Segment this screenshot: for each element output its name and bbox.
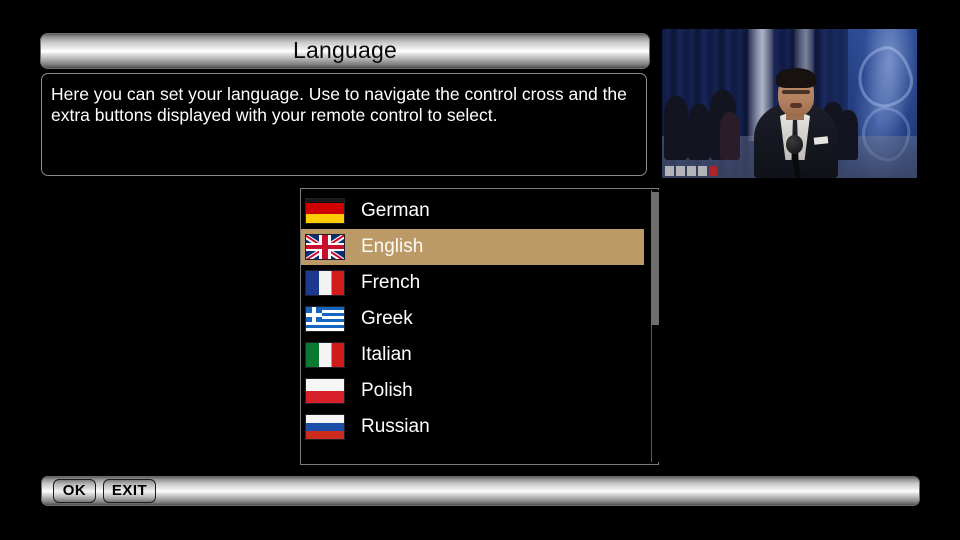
language-list-item[interactable]: French xyxy=(301,265,644,301)
exit-button[interactable]: EXIT xyxy=(103,479,156,503)
logo-glyph xyxy=(665,166,674,176)
flag-germany-icon xyxy=(305,198,345,224)
flag-italy-icon xyxy=(305,342,345,368)
language-list-item-label: English xyxy=(361,236,423,258)
flag-france-icon xyxy=(305,270,345,296)
language-list-item[interactable]: Italian xyxy=(301,337,644,373)
video-crowd-figure xyxy=(664,96,688,160)
ok-button[interactable]: OK xyxy=(53,479,96,503)
language-list-item[interactable]: Russian xyxy=(301,409,644,445)
dialog-title-bar: Language xyxy=(40,33,650,69)
language-list-item-label: German xyxy=(361,200,430,222)
language-list-item-label: Russian xyxy=(361,416,430,438)
flag-united-kingdom-icon xyxy=(305,234,345,260)
language-list: GermanEnglishFrenchGreekItalianPolishRus… xyxy=(301,193,644,445)
language-list-item-label: Italian xyxy=(361,344,412,366)
logo-glyph xyxy=(676,166,685,176)
bottom-button-bar: OK EXIT xyxy=(41,476,920,506)
language-list-item-label: Greek xyxy=(361,308,413,330)
page-title: Language xyxy=(40,33,650,69)
list-scrollbar-thumb[interactable] xyxy=(651,192,659,325)
video-microphone-head xyxy=(786,135,803,154)
help-text-panel: Here you can set your language. Use to n… xyxy=(41,73,647,176)
broadcaster-logo-icon xyxy=(665,166,717,176)
language-list-item[interactable]: Greek xyxy=(301,301,644,337)
language-list-item-label: French xyxy=(361,272,420,294)
tv-settings-screen: Language Here you can set your language.… xyxy=(0,0,960,540)
flag-russia-icon xyxy=(305,414,345,440)
flag-poland-icon xyxy=(305,378,345,404)
video-preview[interactable] xyxy=(662,29,917,178)
help-text: Here you can set your language. Use to n… xyxy=(51,84,639,126)
language-list-panel[interactable]: GermanEnglishFrenchGreekItalianPolishRus… xyxy=(300,188,659,465)
video-reporter-pocket-square xyxy=(814,136,829,144)
logo-glyph xyxy=(698,166,707,176)
video-crowd-figure xyxy=(720,112,740,160)
video-crowd-figure xyxy=(688,104,710,160)
logo-glyph xyxy=(687,166,696,176)
language-list-item[interactable]: Polish xyxy=(301,373,644,409)
video-reporter-mouth xyxy=(790,103,802,108)
language-list-item[interactable]: German xyxy=(301,193,644,229)
language-list-item[interactable]: English xyxy=(301,229,644,265)
logo-glyph xyxy=(709,166,717,176)
video-reporter-hair xyxy=(776,68,816,88)
video-crowd-figure xyxy=(838,110,858,160)
video-reporter-brow xyxy=(782,90,810,94)
language-list-item-label: Polish xyxy=(361,380,413,402)
flag-greece-icon xyxy=(305,306,345,332)
